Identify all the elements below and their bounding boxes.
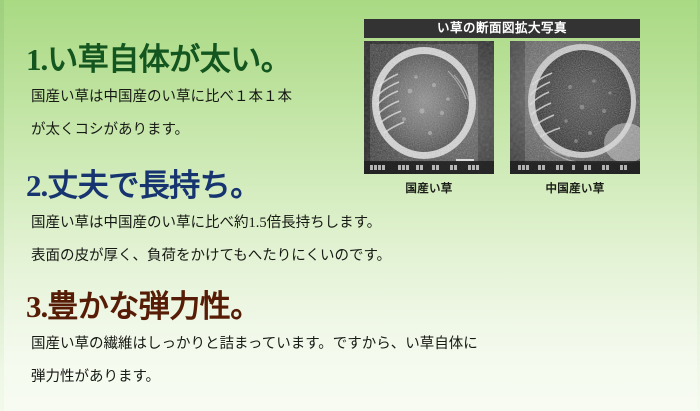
feature-1-body-line-1: 国産い草は中国産のい草に比べ１本１本 <box>31 86 292 108</box>
feature-2-heading: 2.丈夫で長持ち。 <box>26 170 391 201</box>
features-column: 1.い草自体が太い。 国産い草は中国産のい草に比べ１本１本 が太くコシがあります… <box>0 0 360 411</box>
feature-block-1: 1.い草自体が太い。 国産い草は中国産のい草に比べ１本１本 が太くコシがあります… <box>26 44 292 141</box>
feature-block-3: 3.豊かな弾力性。 国産い草の繊維はしっかりと詰まっています。ですから、い草自体… <box>26 291 478 388</box>
feature-2-number: 2. <box>26 168 47 203</box>
feature-3-body-line-2: 弾力性があります。 <box>31 366 478 388</box>
domestic-igusa-cross-section-photo <box>364 41 494 174</box>
chinese-igusa-cross-section-photo <box>510 41 640 174</box>
feature-1-heading: 1.い草自体が太い。 <box>26 44 292 75</box>
photo-caption-domestic: 国産い草 <box>364 180 494 196</box>
feature-2-body-line-1: 国産い草は中国産のい草に比べ約1.5倍長持ちします。 <box>31 212 391 234</box>
feature-3-body-line-1: 国産い草の繊維はしっかりと詰まっています。ですから、い草自体に <box>31 333 478 355</box>
cross-section-photo-panel: い草の断面図拡大写真 <box>364 19 640 196</box>
feature-1-heading-text: い草自体が太い。 <box>47 42 291 77</box>
feature-1-body-line-2: が太くコシがあります。 <box>31 119 292 141</box>
feature-3-heading-text: 豊かな弾力性。 <box>47 289 261 324</box>
feature-block-2: 2.丈夫で長持ち。 国産い草は中国産のい草に比べ約1.5倍長持ちします。 表面の… <box>26 170 391 267</box>
feature-2-heading-text: 丈夫で長持ち。 <box>47 168 261 203</box>
feature-3-heading: 3.豊かな弾力性。 <box>26 291 478 322</box>
feature-2-body-line-2: 表面の皮が厚く、負荷をかけてもへたりにくいのです。 <box>31 245 391 267</box>
photo-cell-chinese: 中国産い草 <box>510 41 640 196</box>
infographic-page: 1.い草自体が太い。 国産い草は中国産のい草に比べ１本１本 が太くコシがあります… <box>0 0 700 411</box>
photo-cell-domestic: 国産い草 <box>364 41 494 196</box>
photo-row: 国産い草 <box>364 41 640 196</box>
feature-3-number: 3. <box>26 289 47 324</box>
feature-1-number: 1. <box>26 42 47 77</box>
photo-caption-chinese: 中国産い草 <box>510 180 640 196</box>
photo-panel-banner: い草の断面図拡大写真 <box>364 19 640 38</box>
